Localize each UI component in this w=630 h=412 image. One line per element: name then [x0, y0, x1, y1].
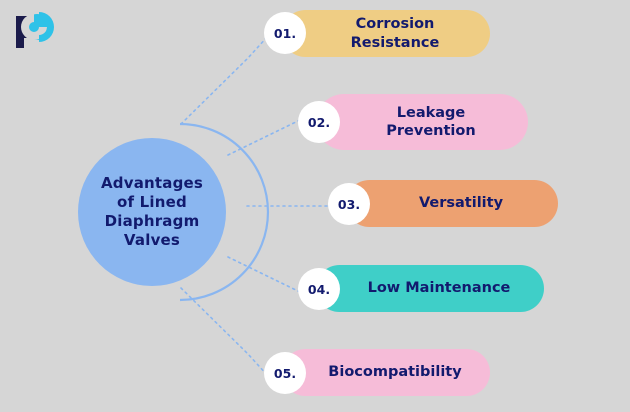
item-pill-2[interactable]: Leakage Prevention: [316, 94, 528, 150]
pi-logo-icon: [12, 10, 58, 54]
item-number-badge-5: 05.: [264, 352, 306, 394]
item-number-badge-1: 01.: [264, 12, 306, 54]
center-node: Advantages of Lined Diaphragm Valves: [78, 138, 226, 286]
item-number-1: 01.: [274, 26, 296, 41]
item-number-badge-4: 04.: [298, 268, 340, 310]
infographic-canvas: Advantages of Lined Diaphragm Valves Cor…: [0, 0, 630, 412]
item-number-3: 03.: [338, 197, 360, 212]
item-pill-5[interactable]: Biocompatibility: [282, 349, 490, 396]
item-pill-1[interactable]: Corrosion Resistance: [282, 10, 490, 57]
item-pill-4[interactable]: Low Maintenance: [316, 265, 544, 312]
item-number-badge-3: 03.: [328, 183, 370, 225]
item-label-5: Biocompatibility: [282, 363, 490, 381]
item-label-4: Low Maintenance: [316, 279, 544, 297]
item-number-5: 05.: [274, 366, 296, 381]
item-number-2: 02.: [308, 115, 330, 130]
item-number-4: 04.: [308, 282, 330, 297]
center-node-label: Advantages of Lined Diaphragm Valves: [91, 174, 213, 251]
item-label-2: Leakage Prevention: [316, 104, 528, 140]
item-number-badge-2: 02.: [298, 101, 340, 143]
item-label-3: Versatility: [346, 194, 558, 212]
item-label-1: Corrosion Resistance: [282, 15, 490, 51]
item-pill-3[interactable]: Versatility: [346, 180, 558, 227]
